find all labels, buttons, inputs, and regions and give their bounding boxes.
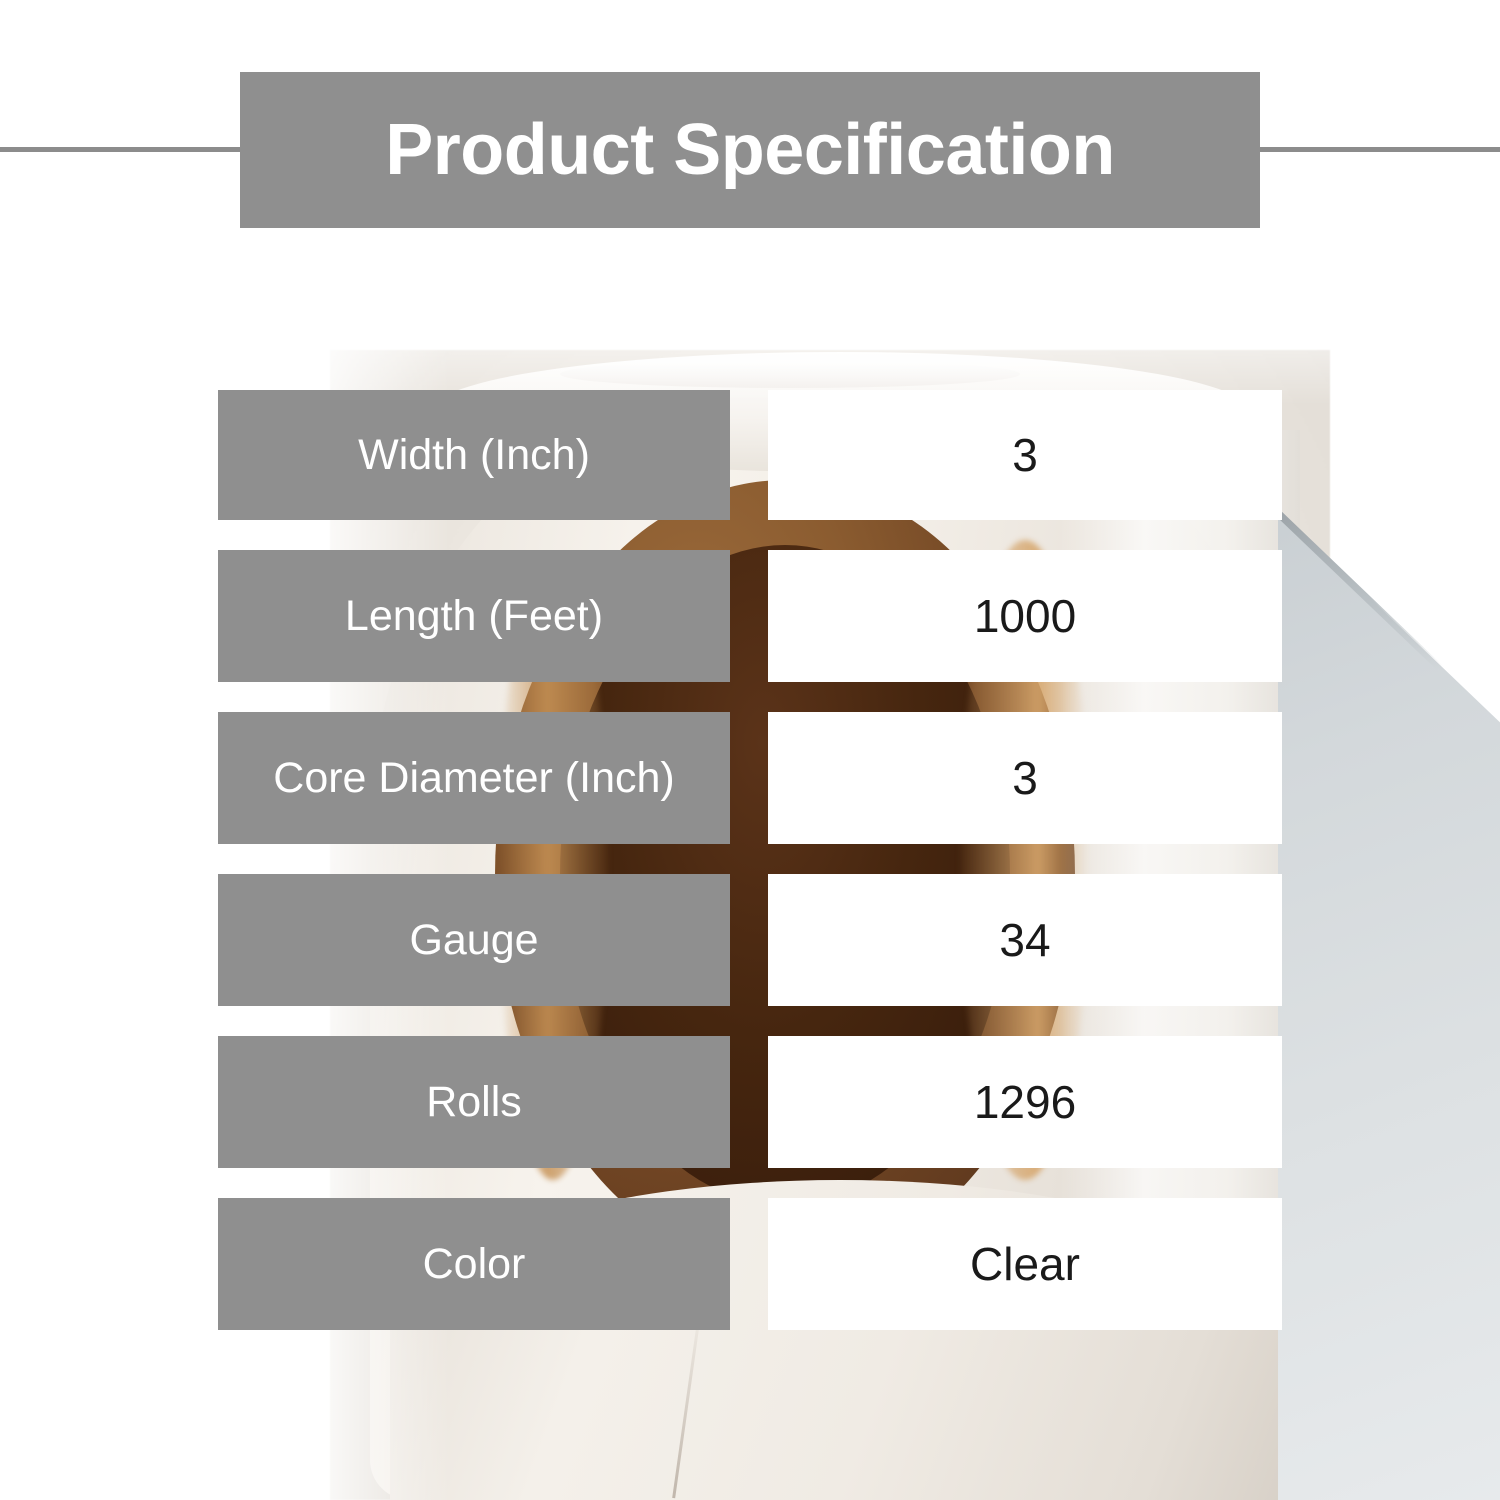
- spec-label-color: Color: [218, 1198, 730, 1330]
- spec-value-rolls: 1296: [768, 1036, 1282, 1168]
- spec-value-color: Clear: [768, 1198, 1282, 1330]
- spec-value-gauge: 34: [768, 874, 1282, 1006]
- spec-value-core-diameter: 3: [768, 712, 1282, 844]
- spec-label-core-diameter: Core Diameter (Inch): [218, 712, 730, 844]
- spec-value-width: 3: [768, 390, 1282, 520]
- spec-label-length: Length (Feet): [218, 550, 730, 682]
- spec-label-gauge: Gauge: [218, 874, 730, 1006]
- spec-value-length: 1000: [768, 550, 1282, 682]
- spec-label-width: Width (Inch): [218, 390, 730, 520]
- spec-table: Width (Inch) 3 Length (Feet) 1000 Core D…: [0, 0, 1500, 1500]
- product-specification-card: Product Specification Width (Inch) 3 Len…: [0, 0, 1500, 1500]
- spec-label-rolls: Rolls: [218, 1036, 730, 1168]
